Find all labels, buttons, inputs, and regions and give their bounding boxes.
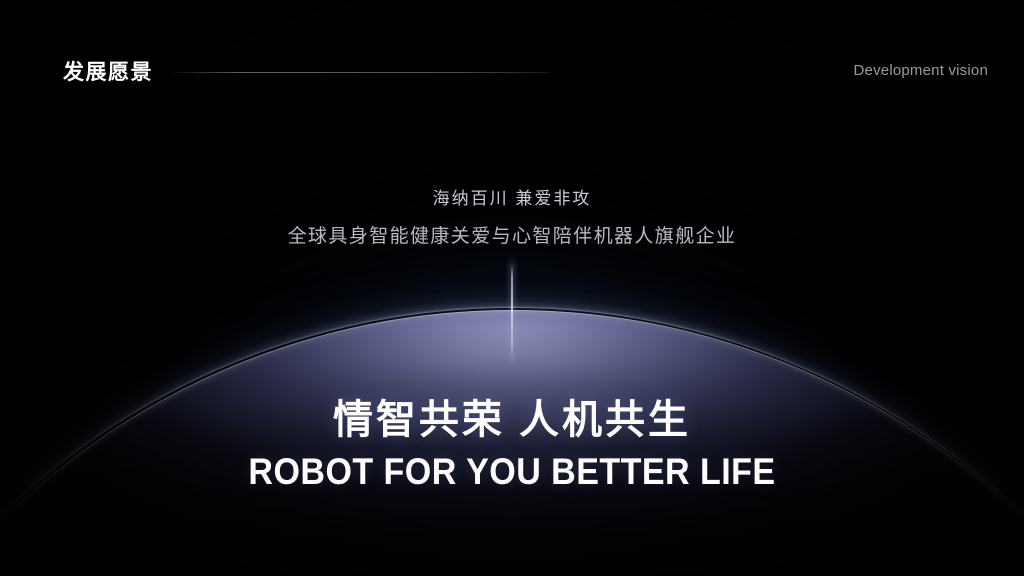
slide-header: 发展愿景 Development vision bbox=[0, 0, 1024, 110]
hero-headline-chinese: 情智共荣 人机共生 bbox=[0, 396, 1024, 444]
page-title: 发展愿景 bbox=[63, 60, 153, 86]
header-divider bbox=[172, 72, 550, 73]
presentation-slide: 发展愿景 Development vision 海纳百川 兼爱非攻 全球具身智能… bbox=[0, 0, 1024, 576]
page-subtitle-english: Development vision bbox=[854, 60, 989, 82]
motto-line-secondary: 全球具身智能健康关爱与心智陪伴机器人旗舰企业 bbox=[0, 223, 1024, 250]
motto-line-primary: 海纳百川 兼爱非攻 bbox=[0, 186, 1024, 212]
hero-headline-english: ROBOT FOR YOU BETTER LIFE bbox=[41, 450, 983, 494]
motto-block: 海纳百川 兼爱非攻 全球具身智能健康关爱与心智陪伴机器人旗舰企业 bbox=[0, 186, 1024, 250]
hero-block: 情智共荣 人机共生 ROBOT FOR YOU BETTER LIFE bbox=[0, 396, 1024, 494]
